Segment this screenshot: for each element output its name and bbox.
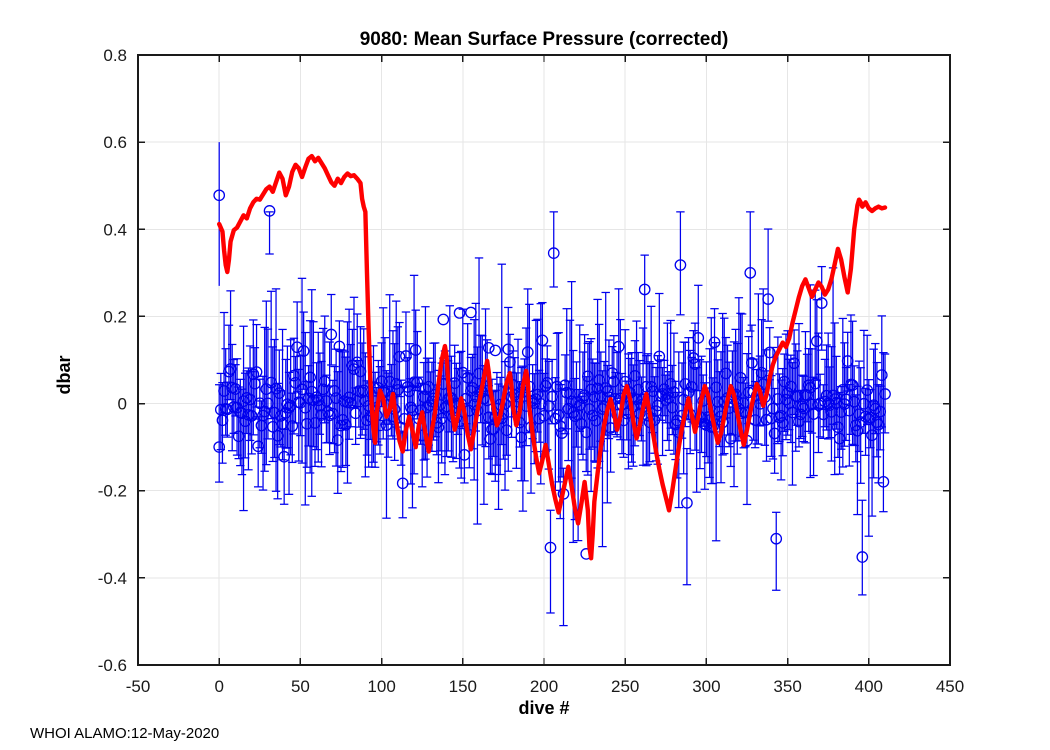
y-tick-label: 0.8 bbox=[103, 46, 127, 65]
x-axis-label: dive # bbox=[518, 698, 569, 718]
y-tick-label: 0.4 bbox=[103, 220, 127, 239]
y-axis-label: dbar bbox=[54, 355, 74, 394]
x-tick-label: 250 bbox=[611, 677, 639, 696]
surface-pressure-chart: 9080: Mean Surface Pressure (corrected) … bbox=[0, 0, 1050, 750]
x-tick-label: 150 bbox=[449, 677, 477, 696]
x-tick-label: 200 bbox=[530, 677, 558, 696]
y-tick-label: -0.6 bbox=[98, 656, 127, 675]
x-tick-label: 0 bbox=[214, 677, 223, 696]
y-tick-label: 0.2 bbox=[103, 307, 127, 326]
y-tick-label: 0 bbox=[118, 395, 127, 414]
x-tick-label: 50 bbox=[291, 677, 310, 696]
x-tick-label: 350 bbox=[773, 677, 801, 696]
x-tick-label: 400 bbox=[855, 677, 883, 696]
y-tick-label: -0.2 bbox=[98, 482, 127, 501]
x-tick-label: -50 bbox=[126, 677, 151, 696]
figure-container: 9080: Mean Surface Pressure (corrected) … bbox=[0, 0, 1050, 750]
footer-caption: WHOI ALAMO:12-May-2020 bbox=[30, 725, 219, 742]
y-tick-label: -0.4 bbox=[98, 569, 127, 588]
x-tick-label: 450 bbox=[936, 677, 964, 696]
x-tick-label: 300 bbox=[692, 677, 720, 696]
chart-title: 9080: Mean Surface Pressure (corrected) bbox=[360, 29, 729, 50]
y-tick-label: 0.6 bbox=[103, 133, 127, 152]
x-tick-label: 100 bbox=[367, 677, 395, 696]
